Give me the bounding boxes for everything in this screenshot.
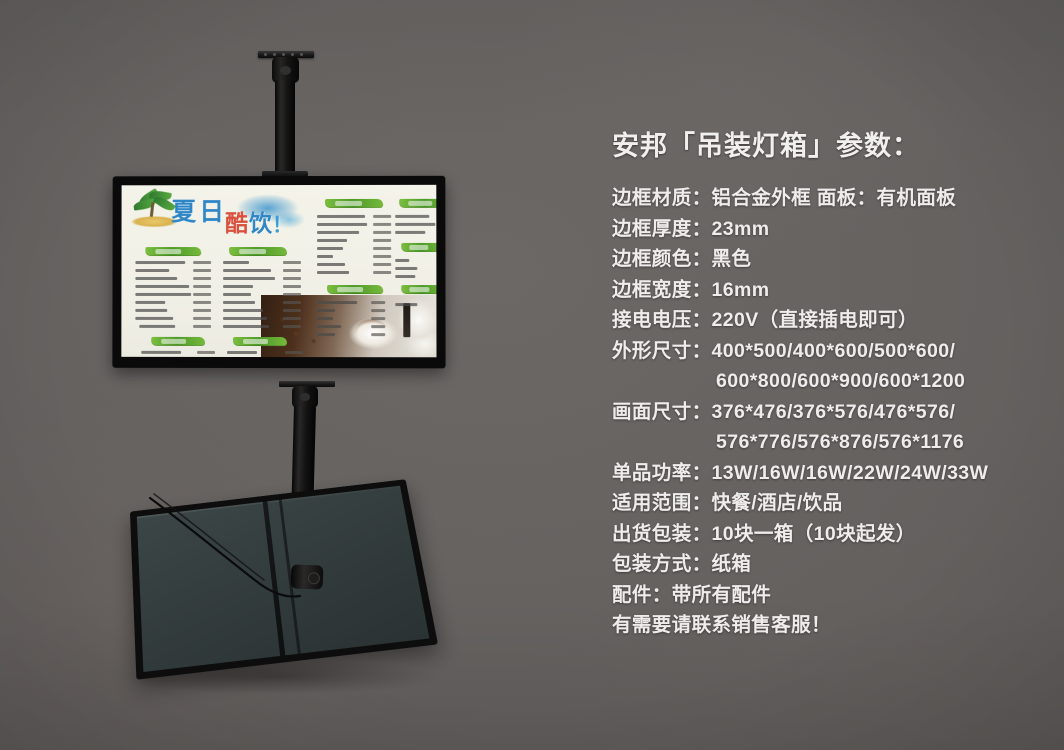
spec-panel: 安邦「吊装灯箱」参数： 边框材质：铝合金外框 面板：有机面板边框厚度：23mm边… bbox=[612, 124, 1052, 641]
spec-line: 单品功率：13W/16W/16W/22W/24W/33W bbox=[612, 458, 1052, 489]
menu-section-header bbox=[145, 247, 201, 256]
spec-line: 有需要请联系销售客服！ bbox=[612, 610, 1052, 641]
headline-char-2: 日 bbox=[199, 199, 224, 224]
spec-line: 画面尺寸：376*476/376*576/476*576/ bbox=[612, 397, 1052, 428]
spec-line: 边框材质：铝合金外框 面板：有机面板 bbox=[612, 183, 1052, 214]
product-photo-stage: 夏 日 酷 饮 ！ bbox=[0, 0, 1064, 750]
menu-section-header bbox=[325, 199, 383, 208]
lightbox-panel-upper: 夏 日 酷 饮 ！ bbox=[112, 176, 445, 369]
menu-section-header bbox=[229, 247, 287, 256]
spec-line: 边框颜色：黑色 bbox=[612, 244, 1052, 275]
menu-section-header bbox=[401, 243, 436, 252]
spec-line: 适用范围：快餐/酒店/饮品 bbox=[612, 488, 1052, 519]
menu-artwork: 夏 日 酷 饮 ！ bbox=[121, 185, 436, 357]
spec-line: 出货包装：10块一箱（10块起发） bbox=[612, 519, 1052, 550]
menu-section-header bbox=[327, 285, 383, 294]
spec-line: 边框厚度：23mm bbox=[612, 214, 1052, 245]
menu-section-header bbox=[151, 337, 205, 346]
menu-section-header bbox=[399, 199, 436, 208]
spec-line: 576*776/576*876/576*1176 bbox=[612, 427, 1052, 458]
spec-title: 安邦「吊装灯箱」参数： bbox=[612, 124, 1052, 163]
spec-line: 配件：带所有配件 bbox=[612, 580, 1052, 611]
headline-char-4: 饮 bbox=[249, 213, 272, 236]
drop-pole-upper bbox=[275, 80, 295, 180]
spec-list: 边框材质：铝合金外框 面板：有机面板边框厚度：23mm边框颜色：黑色边框宽度：1… bbox=[612, 183, 1052, 641]
upper-lightbox-assembly: 夏 日 酷 饮 ！ bbox=[0, 0, 600, 750]
menu-headline: 夏 日 酷 饮 ！ bbox=[125, 187, 310, 243]
spec-line: 600*800/600*900/600*1200 bbox=[612, 366, 1052, 397]
spec-line: 外形尺寸：400*500/400*600/500*600/ bbox=[612, 336, 1052, 367]
spec-line: 边框宽度：16mm bbox=[612, 275, 1052, 306]
headline-char-5: ！ bbox=[272, 215, 293, 236]
menu-section-header bbox=[233, 337, 287, 346]
spec-line: 接电电压：220V（直接插电即可） bbox=[612, 305, 1052, 336]
headline-char-1: 夏 bbox=[171, 199, 196, 224]
spec-line: 包装方式：纸箱 bbox=[612, 549, 1052, 580]
lightbox-face-upper: 夏 日 酷 饮 ！ bbox=[121, 185, 436, 357]
menu-section-header bbox=[401, 285, 436, 294]
headline-char-3: 酷 bbox=[225, 213, 248, 236]
